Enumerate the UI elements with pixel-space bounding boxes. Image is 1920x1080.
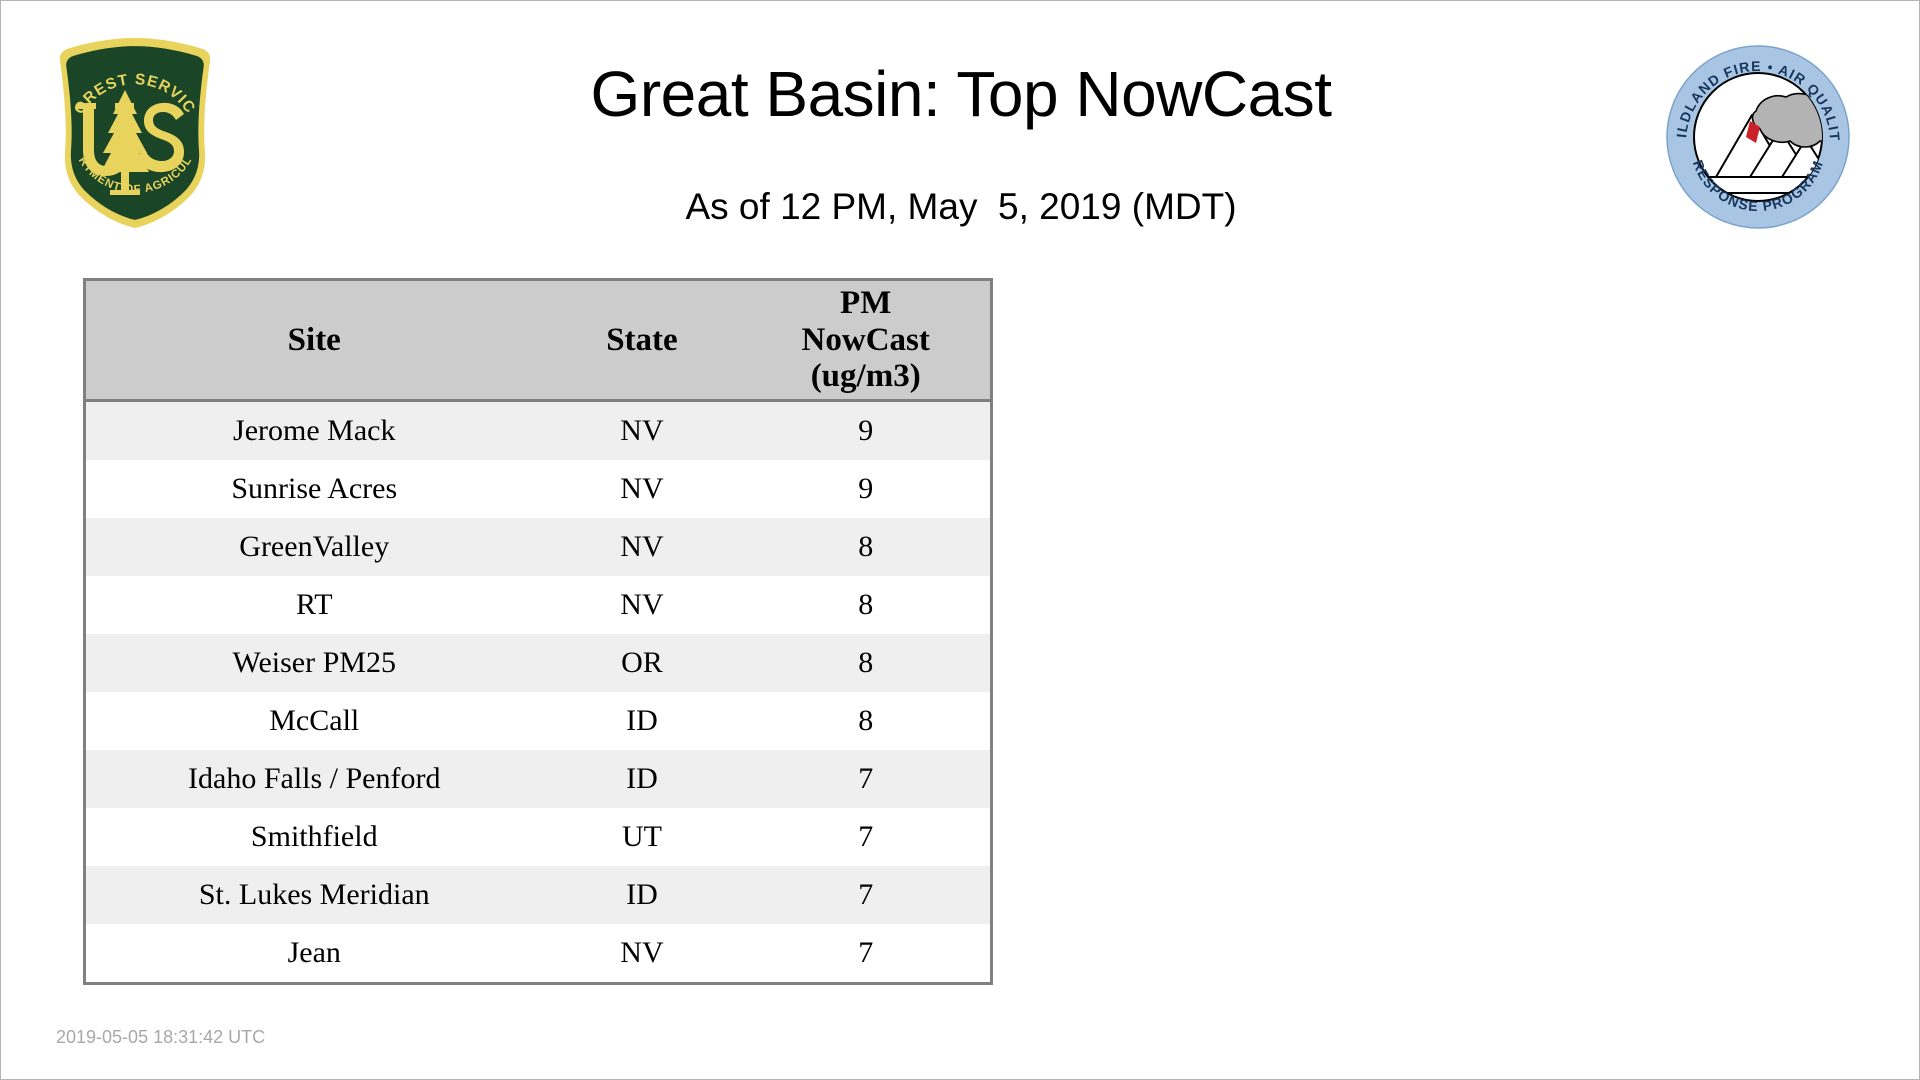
cell-state: ID	[543, 692, 742, 750]
cell-pm-nowcast: 7	[741, 750, 990, 808]
wildland-fire-air-quality-response-program-icon: WILDLAND FIRE • AIR QUALITY RESPONSE PRO…	[1664, 43, 1852, 231]
table-row: GreenValleyNV8	[86, 518, 990, 576]
cell-state: NV	[543, 576, 742, 634]
cell-pm-nowcast: 8	[741, 634, 990, 692]
cell-state: NV	[543, 401, 742, 461]
cell-state: ID	[543, 866, 742, 924]
cell-pm-nowcast: 9	[741, 460, 990, 518]
page-canvas: FOREST SERVICE DEPARTMENT OF AGRICULTURE	[0, 0, 1920, 1080]
cell-site: Sunrise Acres	[86, 460, 543, 518]
cell-state: NV	[543, 518, 742, 576]
cell-pm-nowcast: 8	[741, 692, 990, 750]
cell-state: ID	[543, 750, 742, 808]
table-row: SmithfieldUT7	[86, 808, 990, 866]
table-body: Jerome MackNV9Sunrise AcresNV9GreenValle…	[86, 401, 990, 983]
cell-site: Smithfield	[86, 808, 543, 866]
table-row: Sunrise AcresNV9	[86, 460, 990, 518]
nowcast-table: Site State PM NowCast (ug/m3) Jerome Mac…	[83, 278, 993, 985]
cell-state: UT	[543, 808, 742, 866]
table-row: RTNV8	[86, 576, 990, 634]
table-row: JeanNV7	[86, 924, 990, 982]
table-row: Jerome MackNV9	[86, 401, 990, 461]
cell-site: Weiser PM25	[86, 634, 543, 692]
table-row: St. Lukes MeridianID7	[86, 866, 990, 924]
table-row: Weiser PM25OR8	[86, 634, 990, 692]
cell-state: OR	[543, 634, 742, 692]
cell-site: Jean	[86, 924, 543, 982]
table-row: Idaho Falls / PenfordID7	[86, 750, 990, 808]
cell-state: NV	[543, 924, 742, 982]
cell-site: RT	[86, 576, 543, 634]
cell-pm-nowcast: 7	[741, 866, 990, 924]
cell-pm-nowcast: 8	[741, 576, 990, 634]
column-header-state: State	[543, 281, 742, 401]
cell-site: GreenValley	[86, 518, 543, 576]
cell-site: Idaho Falls / Penford	[86, 750, 543, 808]
cell-pm-nowcast: 8	[741, 518, 990, 576]
cell-pm-nowcast: 7	[741, 808, 990, 866]
footer-timestamp: 2019-05-05 18:31:42 UTC	[56, 1027, 265, 1048]
column-header-pm-nowcast: PM NowCast (ug/m3)	[741, 281, 990, 401]
column-header-site: Site	[86, 281, 543, 401]
cell-state: NV	[543, 460, 742, 518]
cell-site: Jerome Mack	[86, 401, 543, 461]
forest-service-shield-icon: FOREST SERVICE DEPARTMENT OF AGRICULTURE	[53, 35, 217, 231]
table-row: McCallID8	[86, 692, 990, 750]
page-title: Great Basin: Top NowCast	[301, 57, 1621, 131]
table-header-row: Site State PM NowCast (ug/m3)	[86, 281, 990, 401]
cell-site: St. Lukes Meridian	[86, 866, 543, 924]
cell-pm-nowcast: 7	[741, 924, 990, 982]
cell-site: McCall	[86, 692, 543, 750]
cell-pm-nowcast: 9	[741, 401, 990, 461]
page-subtitle: As of 12 PM, May 5, 2019 (MDT)	[301, 186, 1621, 228]
